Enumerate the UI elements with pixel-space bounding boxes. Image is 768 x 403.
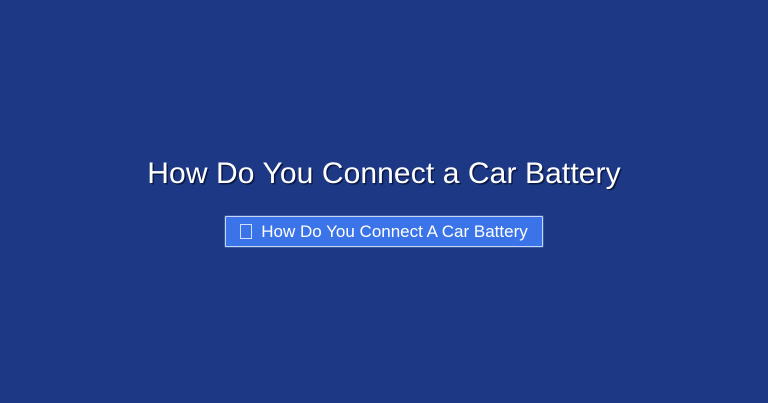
watch-video-button-label: How Do You Connect A Car Battery (261, 223, 528, 240)
hero-content: How Do You Connect a Car Battery How Do … (0, 0, 768, 403)
page-canvas: How Do You Connect a Car Battery How Do … (0, 0, 768, 403)
missing-glyph-box-icon (240, 224, 252, 239)
page-title: How Do You Connect a Car Battery (147, 157, 620, 190)
watch-video-button[interactable]: How Do You Connect A Car Battery (225, 216, 543, 247)
